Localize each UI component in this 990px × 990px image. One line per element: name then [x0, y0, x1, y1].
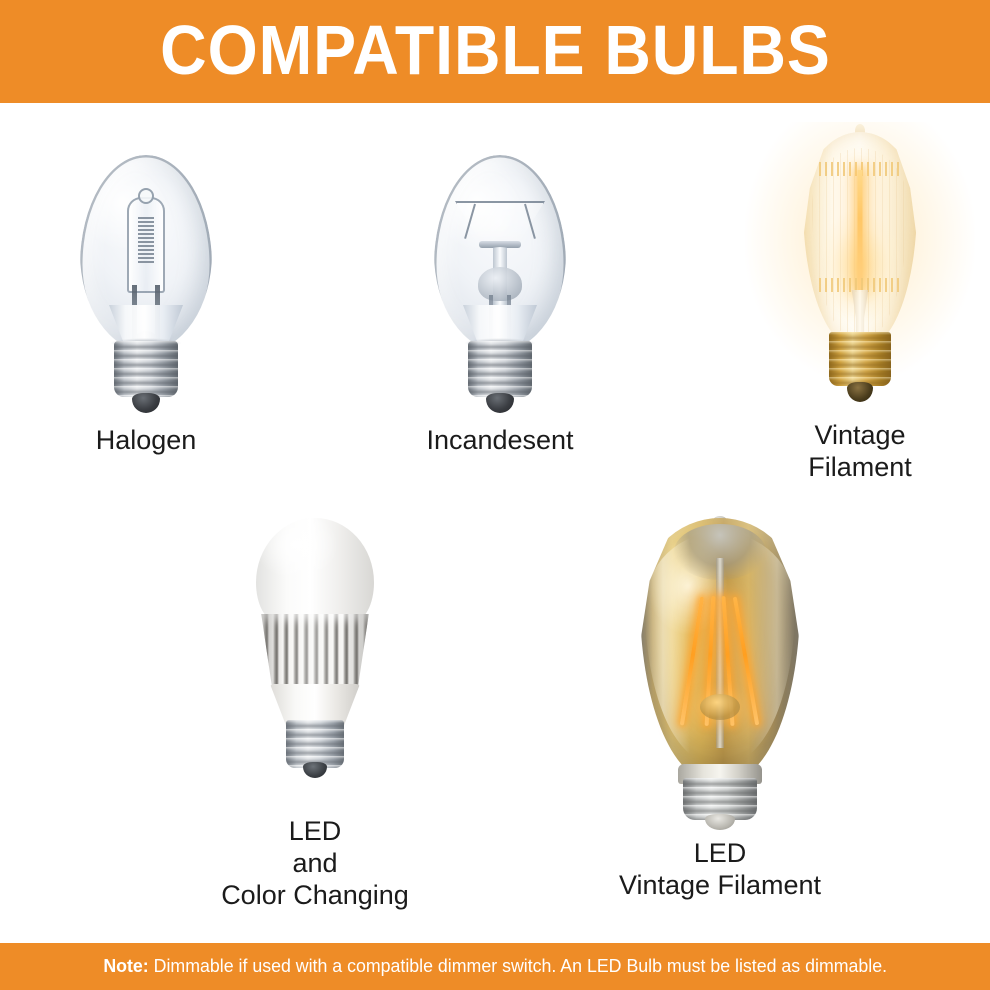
brass-screw-base	[829, 332, 891, 386]
bulb-caption-led-color-changing: LED and Color Changing	[221, 816, 409, 912]
base-contact-tip	[486, 393, 514, 413]
header-bar: COMPATIBLE BULBS	[0, 0, 990, 103]
bulb-caption-vintage-filament: Vintage Filament	[808, 420, 912, 484]
screw-base	[286, 720, 344, 768]
footer-bar: Note: Dimmable if used with a compatible…	[0, 943, 990, 990]
bulb-caption-led-vintage-filament: LED Vintage Filament	[619, 838, 821, 902]
compatible-bulbs-infographic: COMPATIBLE BULBS Halogen	[0, 0, 990, 990]
bulb-card-vintage-filament: Vintage Filament	[760, 118, 960, 484]
screw-base	[468, 341, 532, 397]
bulb-card-led-color-changing: LED and Color Changing	[215, 518, 415, 912]
bulb-card-led-vintage-filament: LED Vintage Filament	[590, 518, 850, 902]
halogen-bulb-icon	[80, 155, 212, 413]
page-title: COMPATIBLE BULBS	[160, 15, 831, 89]
dimmable-note: Note: Dimmable if used with a compatible…	[103, 957, 887, 976]
screw-base	[114, 341, 178, 397]
bulb-caption-incandescent: Incandesent	[426, 425, 573, 457]
led-bulb-icon	[251, 518, 379, 770]
base-contact-tip	[847, 382, 873, 402]
stem-press	[478, 267, 522, 301]
incandescent-bulb-icon	[434, 155, 566, 413]
base-contact-tip	[705, 814, 735, 830]
bulb-caption-halogen: Halogen	[96, 425, 197, 457]
base-contact-tip	[303, 762, 327, 778]
vintage-filament-bulb-icon	[796, 118, 924, 410]
led-vintage-filament-bulb-icon	[634, 518, 806, 830]
filament-coil	[138, 217, 154, 263]
glowing-filament	[858, 170, 863, 290]
heat-sink-shading	[259, 614, 371, 690]
bulb-card-halogen: Halogen	[46, 155, 246, 457]
note-label: Note:	[103, 955, 148, 976]
bulb-card-incandescent: Incandesent	[400, 155, 600, 457]
frosted-dome	[256, 518, 374, 622]
filament-hub	[700, 694, 740, 720]
filament-coil-lower	[819, 278, 901, 292]
base-contact-tip	[132, 393, 160, 413]
note-text: Dimmable if used with a compatible dimme…	[149, 955, 887, 976]
